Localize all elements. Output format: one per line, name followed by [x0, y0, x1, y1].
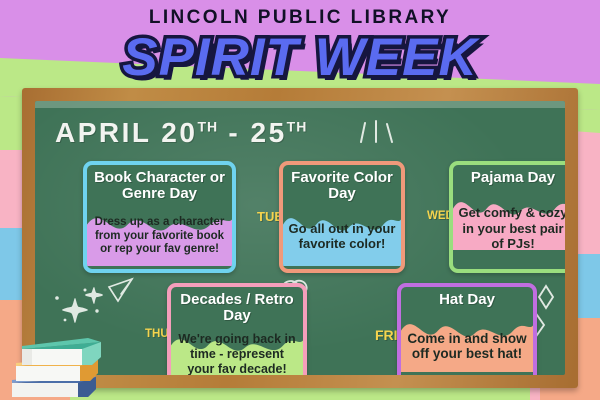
page-title: SPIRIT WEEK	[122, 28, 478, 87]
poster-header: LINCOLN PUBLIC LIBRARY SPIRIT WEEK	[0, 0, 600, 92]
day-label-thursday: THURSDAY	[145, 283, 167, 375]
day-description-tuesday: Go all out in your favorite color!	[288, 221, 396, 252]
date-month: APRIL	[55, 117, 161, 148]
day-description-frisat: Come in and show off your best hat!	[406, 331, 528, 363]
day-card-box-frisat: Hat Day Come in and show off your best h…	[397, 283, 537, 375]
date-start-day: 20	[161, 117, 197, 148]
day-card-box-monday: Book Character or Genre Day Dress up as …	[83, 161, 236, 273]
day-label-thursday-text: THURSDAY	[145, 329, 167, 341]
day-label-frisat-text: FRI&SAT	[375, 328, 397, 342]
day-card-box-wednesday: Pajama Day Get comfy & cozy in your best…	[449, 161, 565, 273]
sparkle-stars-icon	[55, 287, 103, 323]
day-card-box-thursday: Decades / Retro Day We're going back in …	[167, 283, 307, 375]
day-title-frisat: Hat Day	[401, 287, 533, 311]
date-end-suffix: TH	[287, 119, 308, 135]
day-title-wednesday: Pajama Day	[453, 165, 565, 189]
day-label-tuesday: TUESDAY	[257, 161, 279, 273]
date-separator: -	[218, 117, 250, 148]
day-body-monday: Dress up as a character from your favori…	[87, 205, 232, 269]
day-card-tuesday[interactable]: TUESDAY Favorite Color Day Go all out in…	[257, 161, 405, 273]
day-card-frisat[interactable]: FRI&SAT Hat Day Come in and show off you…	[375, 283, 537, 375]
day-card-wednesday[interactable]: WEDNESDAY Pajama Day Get comfy & cozy in…	[427, 161, 565, 273]
day-body-frisat: Come in and show off your best hat!	[401, 311, 533, 375]
sparkle-burst-icon	[361, 121, 392, 142]
day-label-tuesday-text: TUESDAY	[257, 210, 279, 223]
day-title-monday: Book Character or Genre Day	[87, 165, 232, 205]
paper-airplane-icon	[109, 279, 132, 301]
day-description-monday: Dress up as a character from your favori…	[92, 216, 227, 257]
day-description-thursday: We're going back in time - represent you…	[176, 332, 298, 375]
date-start-suffix: TH	[197, 119, 218, 135]
day-body-wednesday: Get comfy & cozy in your best pair of PJ…	[453, 189, 565, 269]
day-label-frisat: FRI&SAT	[375, 283, 397, 375]
day-label-wednesday: WEDNESDAY	[427, 161, 449, 273]
organization-name: LINCOLN PUBLIC LIBRARY	[0, 0, 600, 27]
day-label-monday	[61, 161, 83, 273]
day-label-wednesday-text: WEDNESDAY	[427, 211, 449, 223]
date-end-day: 25	[251, 117, 287, 148]
day-title-tuesday: Favorite Color Day	[283, 165, 401, 205]
day-description-wednesday: Get comfy & cozy in your best pair of PJ…	[458, 205, 565, 251]
day-card-monday[interactable]: Book Character or Genre Day Dress up as …	[61, 161, 236, 273]
day-body-tuesday: Go all out in your favorite color!	[283, 205, 401, 269]
day-title-thursday: Decades / Retro Day	[171, 287, 303, 327]
date-range: APRIL 20TH - 25TH	[55, 119, 307, 147]
day-card-thursday[interactable]: THURSDAY Decades / Retro Day We're going…	[145, 283, 307, 375]
day-body-thursday: We're going back in time - represent you…	[171, 327, 303, 375]
day-card-box-tuesday: Favorite Color Day Go all out in your fa…	[279, 161, 405, 273]
book-teal	[22, 338, 101, 365]
book-stack-icon	[0, 327, 122, 400]
title-wrapper: SPIRIT WEEK	[0, 28, 600, 88]
